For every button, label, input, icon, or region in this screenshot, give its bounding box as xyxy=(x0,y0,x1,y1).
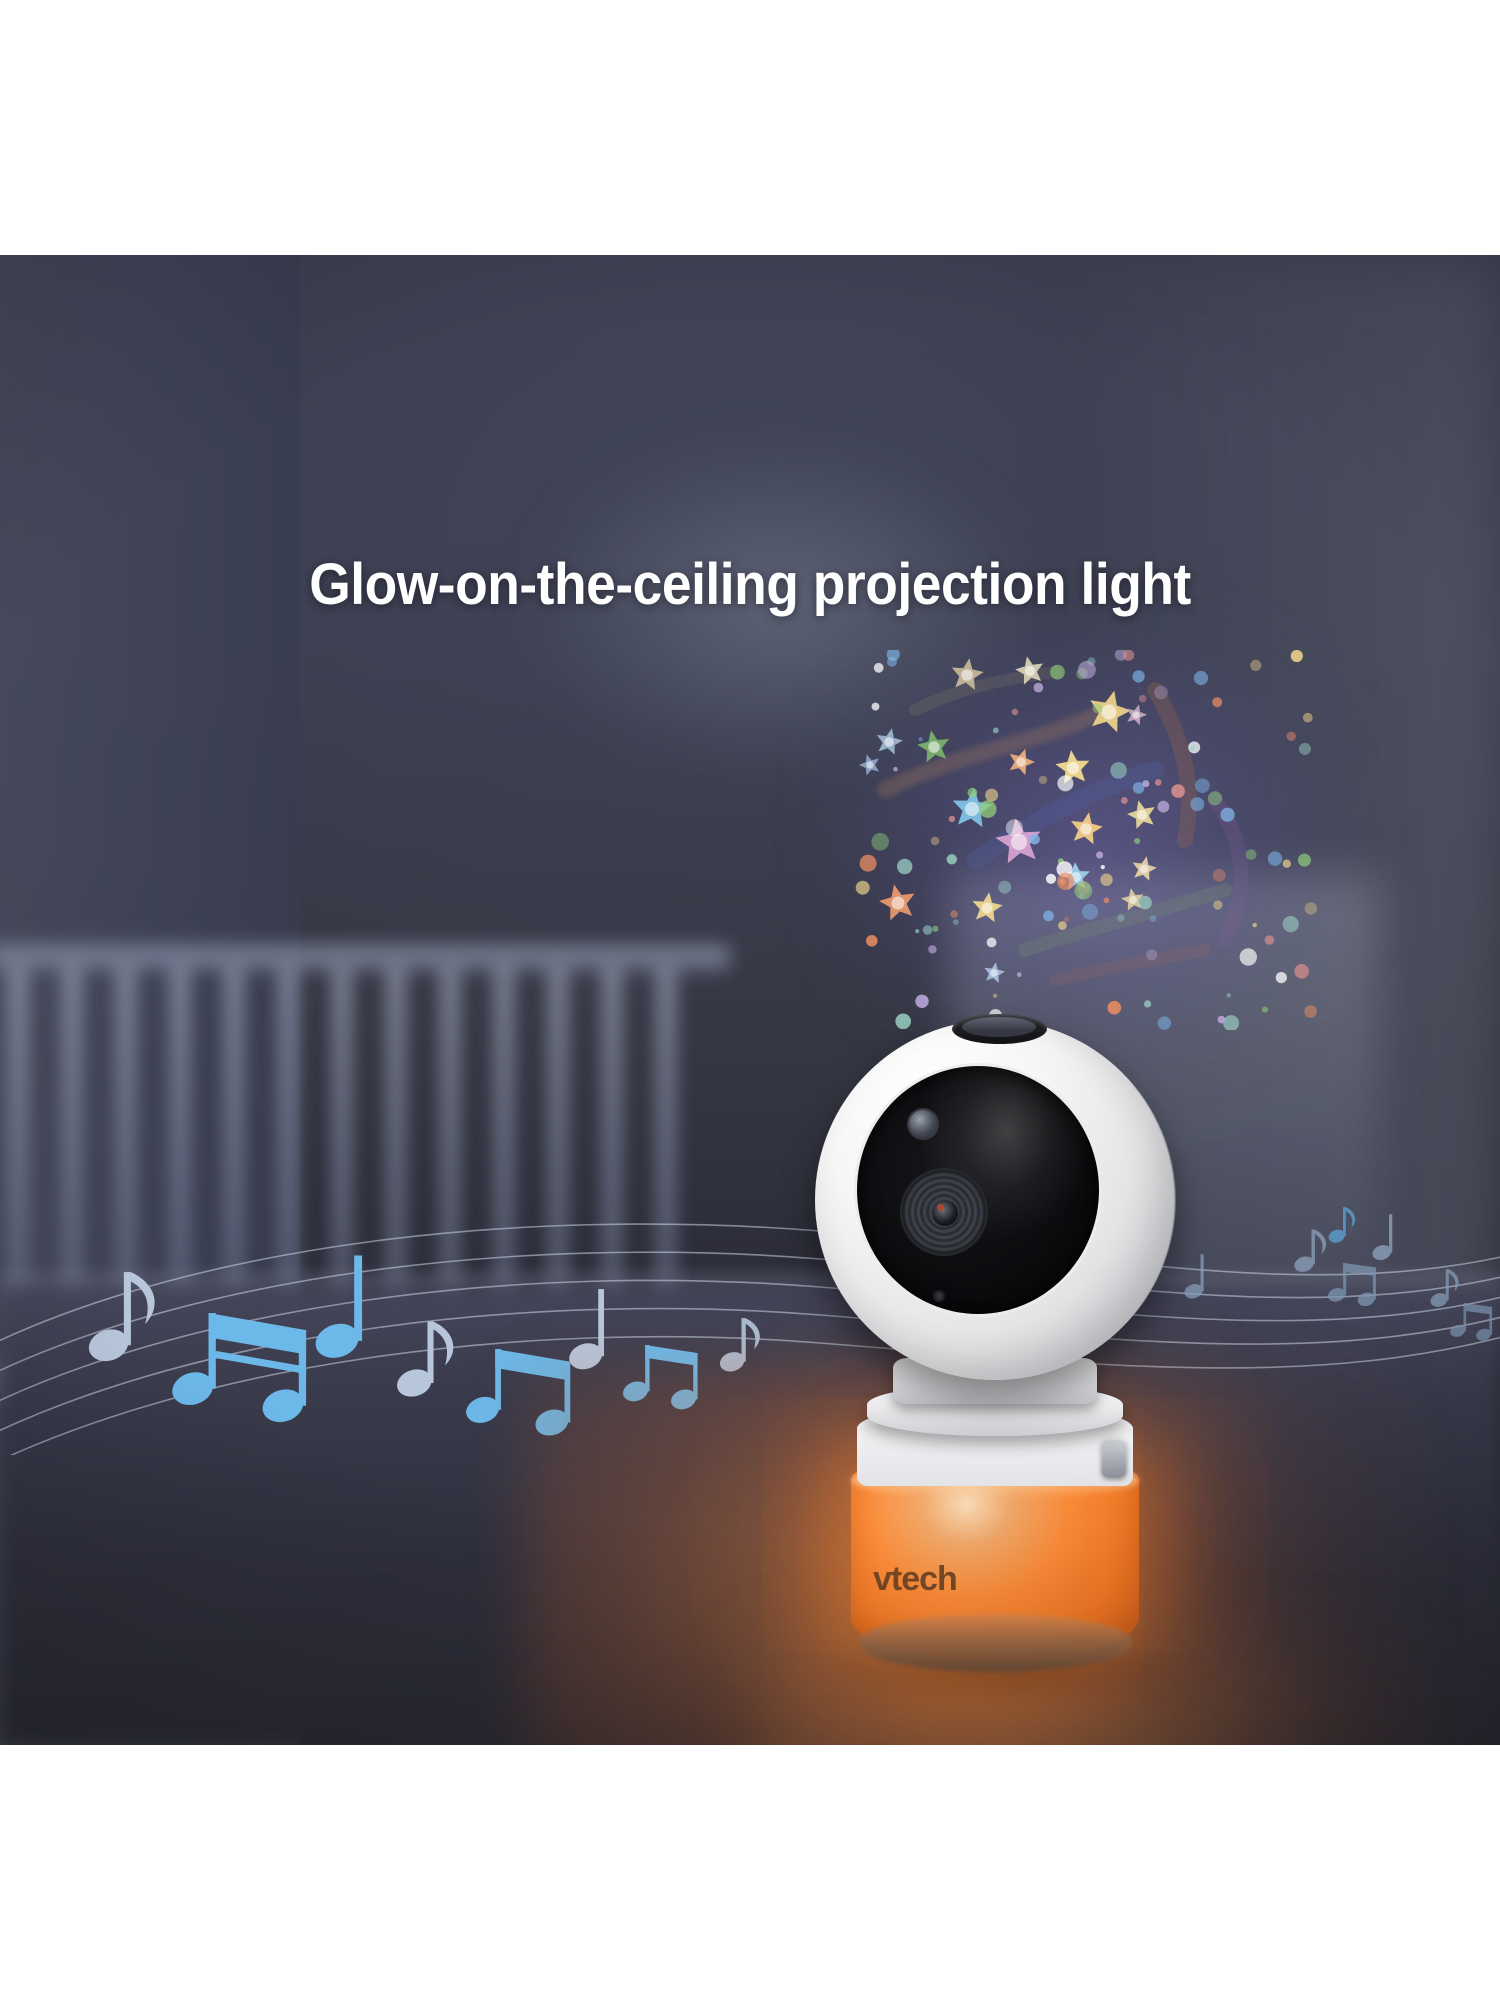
page-title: Glow-on-the-ceiling projection light xyxy=(60,551,1440,618)
hero-panel: vtech Glow-on-the-ceiling projection lig… xyxy=(0,255,1500,1745)
product-marketing-image: vtech Glow-on-the-ceiling projection lig… xyxy=(0,0,1500,2000)
